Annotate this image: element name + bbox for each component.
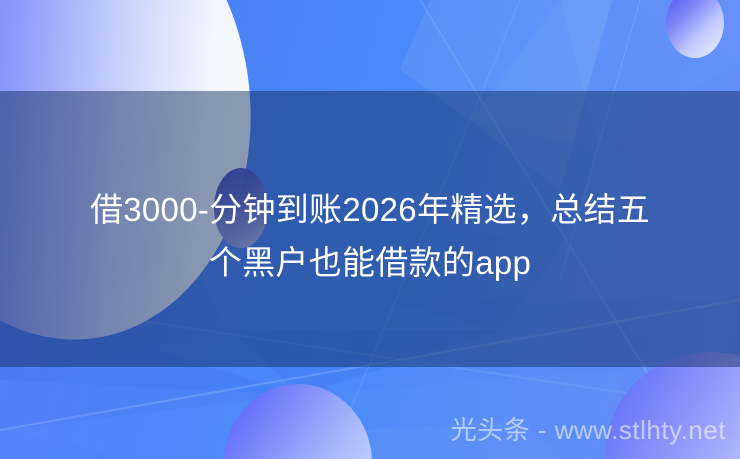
blob-top-right [666,0,724,58]
blob-top-left [0,0,274,358]
banner-title: 借3000-分钟到账2026年精选，总结五 个黑户也能借款的app [0,183,740,289]
banner-title-line-2: 个黑户也能借款的app [0,236,740,289]
banner-title-line-1: 借3000-分钟到账2026年精选，总结五 [0,183,740,236]
blob-bottom-center [224,384,372,459]
promo-banner: 借3000-分钟到账2026年精选，总结五 个黑户也能借款的app 光头条 - … [0,0,740,459]
site-watermark: 光头条 - www.stlhty.net [451,415,726,445]
